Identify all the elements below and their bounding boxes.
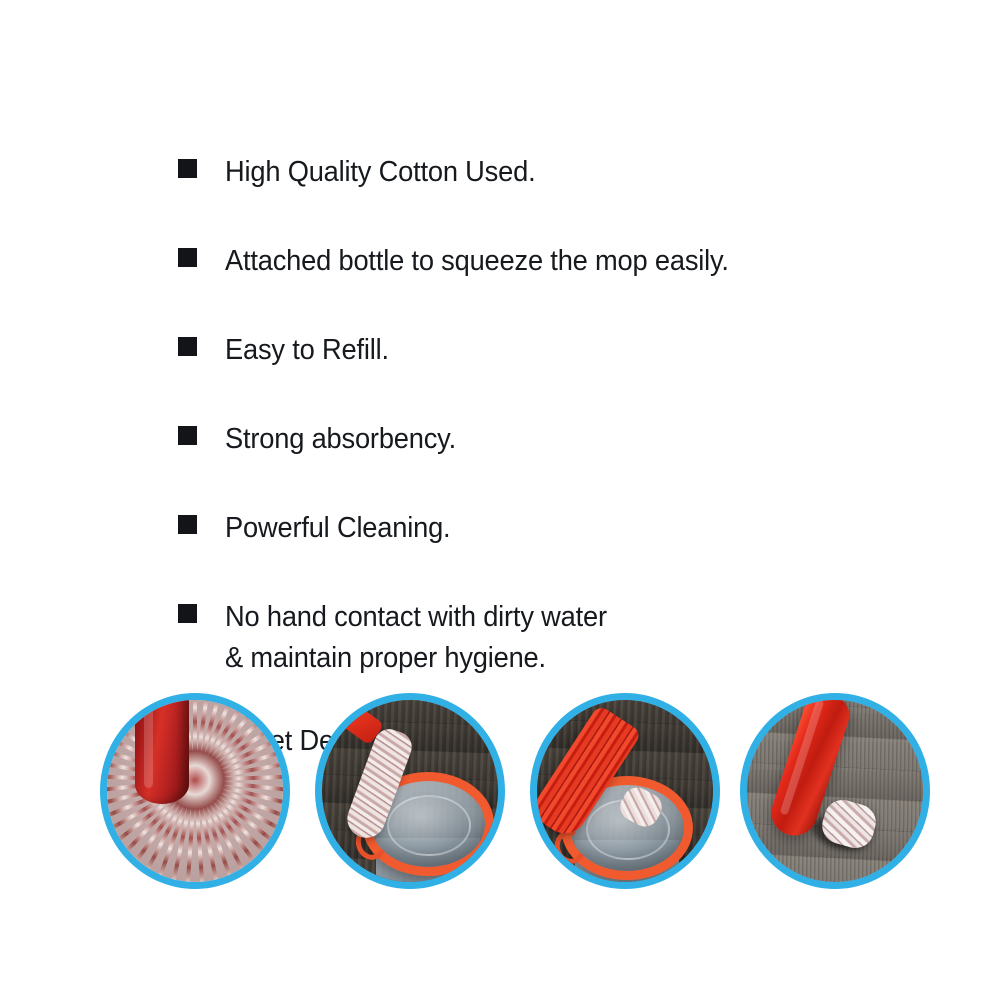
list-item: No hand contact with dirty water & maint… bbox=[178, 597, 898, 679]
photo-scene bbox=[535, 698, 715, 884]
feature-text: Powerful Cleaning. bbox=[225, 508, 450, 549]
square-bullet-icon bbox=[178, 159, 197, 178]
square-bullet-icon bbox=[178, 248, 197, 267]
photo-scene bbox=[745, 698, 925, 884]
list-item: Easy to Refill. bbox=[178, 330, 898, 371]
feature-text: Easy to Refill. bbox=[225, 330, 389, 371]
list-item: Strong absorbency. bbox=[178, 419, 898, 460]
mop-collar bbox=[135, 698, 189, 804]
list-item: High Quality Cotton Used. bbox=[178, 152, 898, 193]
product-photo-mop-on-floor bbox=[740, 693, 930, 889]
feature-text: No hand contact with dirty water & maint… bbox=[225, 597, 607, 679]
product-photo-mop-head-closeup bbox=[100, 693, 290, 889]
product-feature-page: High Quality Cotton Used. Attached bottl… bbox=[0, 0, 1000, 1000]
square-bullet-icon bbox=[178, 337, 197, 356]
square-bullet-icon bbox=[178, 426, 197, 445]
photo-scene bbox=[320, 698, 500, 884]
list-item: Attached bottle to squeeze the mop easil… bbox=[178, 241, 898, 282]
list-item: Powerful Cleaning. bbox=[178, 508, 898, 549]
product-photo-mop-over-bucket bbox=[530, 693, 720, 889]
square-bullet-icon bbox=[178, 515, 197, 534]
square-bullet-icon bbox=[178, 604, 197, 623]
feature-text: Attached bottle to squeeze the mop easil… bbox=[225, 241, 729, 282]
feature-text: High Quality Cotton Used. bbox=[225, 152, 535, 193]
product-photo-mop-into-bucket bbox=[315, 693, 505, 889]
product-photo-strip bbox=[0, 693, 1000, 893]
photo-scene bbox=[105, 698, 285, 884]
feature-text: Strong absorbency. bbox=[225, 419, 456, 460]
